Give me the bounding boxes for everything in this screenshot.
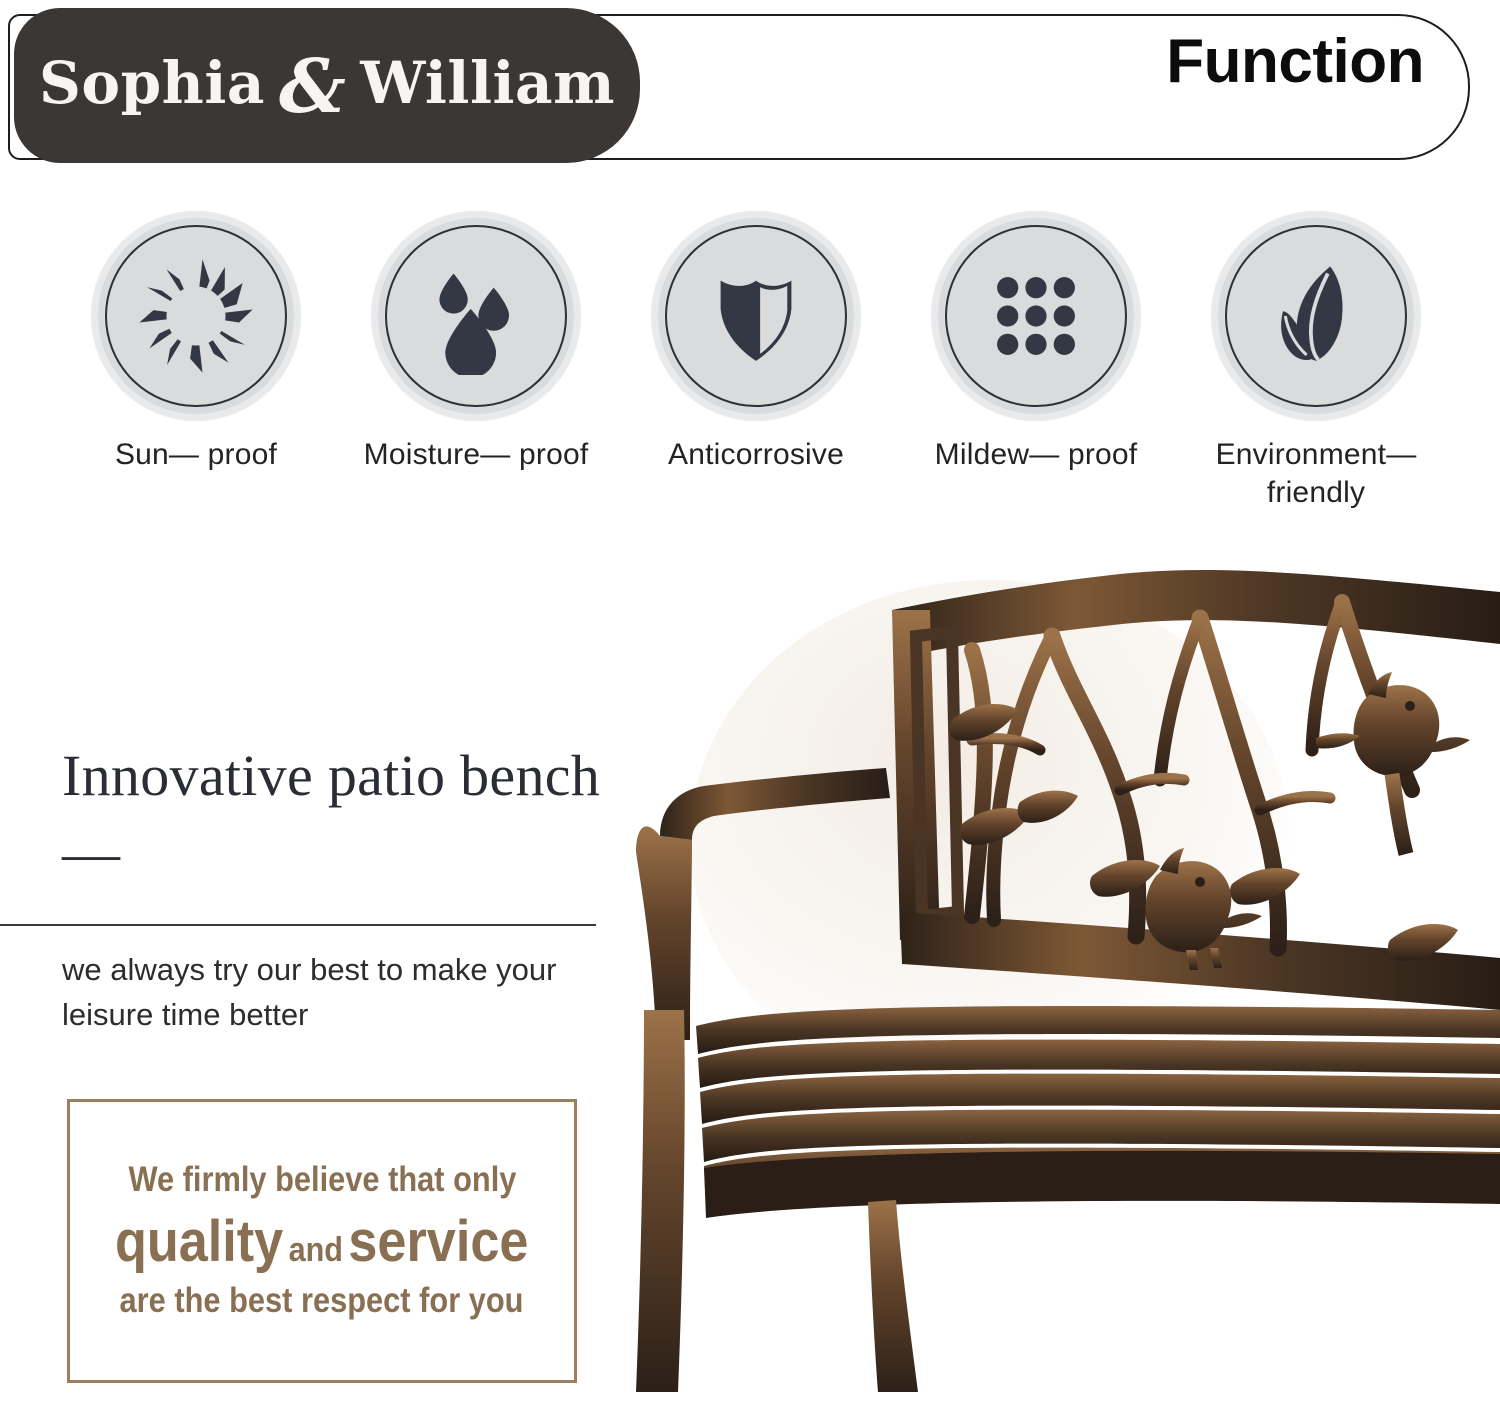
- feature-badge: [378, 218, 574, 414]
- sun-icon: [137, 257, 255, 375]
- feature-badge: [1218, 218, 1414, 414]
- service-word: service: [349, 1209, 529, 1274]
- feature-badge: [938, 218, 1134, 414]
- page-subcopy: we always try our best to make your leis…: [62, 948, 622, 1038]
- feature-label: Mildew— proof: [935, 436, 1138, 474]
- brand-logo-text: Sophia&William: [14, 8, 640, 163]
- dot-grid-icon: [977, 257, 1095, 375]
- water-drop-icon: [417, 257, 535, 375]
- feature-label: Anticorrosive: [668, 436, 844, 474]
- page-headline: Innovative patio bench —: [62, 738, 622, 891]
- feature-item-sun-proof: Sun— proof: [56, 218, 336, 518]
- page-header: Sophia&William Function: [0, 0, 1500, 170]
- headline-divider: [0, 924, 596, 926]
- section-title: Function: [1166, 26, 1424, 97]
- product-photo-bench: [600, 540, 1500, 1401]
- brand-name-second: William: [360, 49, 615, 117]
- feature-badge: [658, 218, 854, 414]
- feature-item-environment-friendly: Environment— friendly: [1176, 218, 1456, 518]
- feature-label: Sun— proof: [115, 436, 277, 474]
- leaf-icon: [1257, 257, 1375, 375]
- feature-badge: [98, 218, 294, 414]
- quality-line-3: are the best respect for you: [120, 1282, 524, 1321]
- feature-item-moisture-proof: Moisture— proof: [336, 218, 616, 518]
- feature-item-anticorrosive: Anticorrosive: [616, 218, 896, 518]
- quality-word: quality: [115, 1209, 283, 1274]
- shield-icon: [697, 257, 815, 375]
- feature-list: Sun— proof Moisture— proof: [56, 218, 1456, 518]
- quality-line-1: We firmly believe that only: [128, 1161, 516, 1200]
- brand-name-first: Sophia: [39, 49, 265, 117]
- quality-conjunction: and: [284, 1231, 349, 1269]
- feature-item-mildew-proof: Mildew— proof: [896, 218, 1176, 518]
- quality-line-2: qualityandservice: [115, 1206, 528, 1279]
- feature-label: Environment— friendly: [1176, 436, 1456, 511]
- quality-statement-box: We firmly believe that only qualityandse…: [67, 1099, 577, 1383]
- ampersand-glyph: &: [265, 44, 360, 130]
- brand-plate: Sophia&William: [14, 8, 640, 163]
- feature-label: Moisture— proof: [364, 436, 589, 474]
